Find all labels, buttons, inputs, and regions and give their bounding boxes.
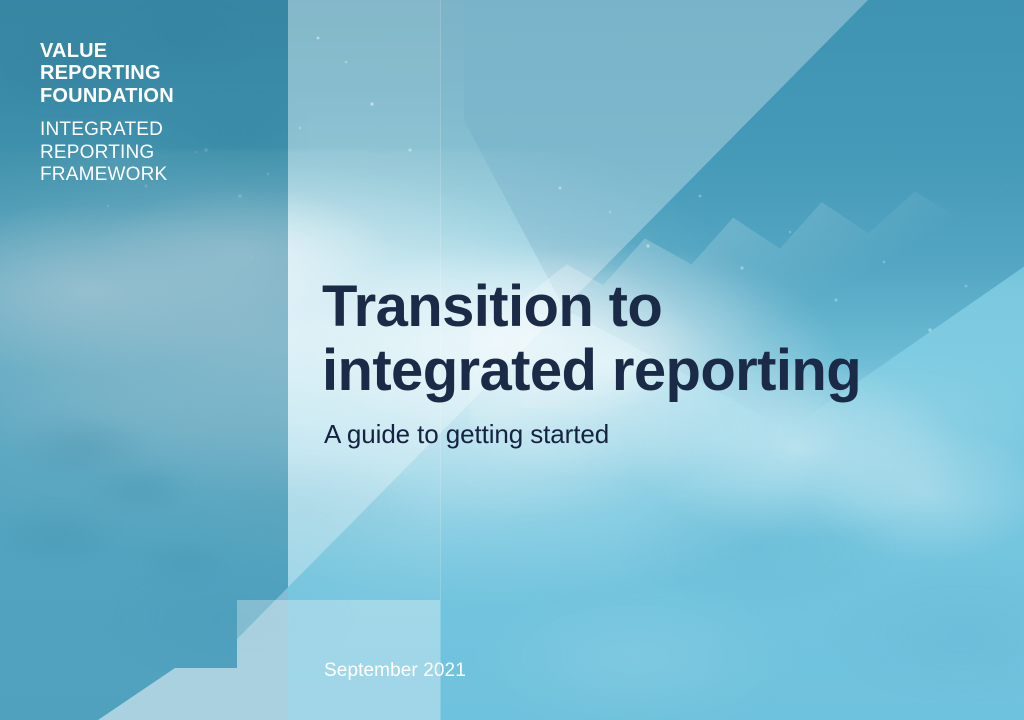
page-title: Transition to integrated reporting xyxy=(322,275,962,403)
logo-primary-line-1: VALUE xyxy=(40,40,270,62)
page-title-line-2: integrated reporting xyxy=(322,339,962,403)
logo-secondary-line-3: FRAMEWORK xyxy=(40,164,270,186)
title-block: Transition to integrated reporting A gui… xyxy=(322,275,962,450)
page-subtitle: A guide to getting started xyxy=(324,419,962,450)
logo-primary-line-2: REPORTING xyxy=(40,62,270,84)
logo-primary-line-3: FOUNDATION xyxy=(40,85,270,107)
logo-primary-text: VALUE REPORTING FOUNDATION xyxy=(40,40,270,107)
logo-secondary-line-2: REPORTING xyxy=(40,142,270,164)
value-reporting-foundation-logo: VALUE REPORTING FOUNDATION INTEGRATED RE… xyxy=(40,40,270,186)
document-cover-page: VALUE REPORTING FOUNDATION INTEGRATED RE… xyxy=(0,0,1024,720)
page-title-line-1: Transition to xyxy=(322,275,962,339)
publication-date: September 2021 xyxy=(324,660,466,682)
logo-secondary-line-1: INTEGRATED xyxy=(40,119,270,141)
logo-secondary-text: INTEGRATED REPORTING FRAMEWORK xyxy=(40,119,270,186)
